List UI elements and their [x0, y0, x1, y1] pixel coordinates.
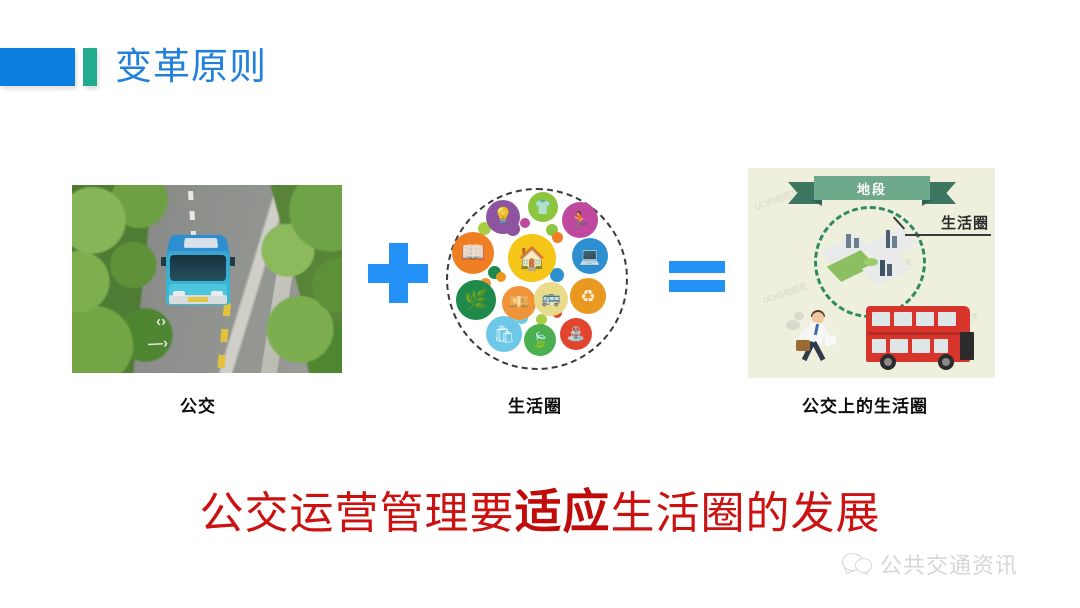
bus-window	[912, 339, 930, 353]
shopping-bag-icon: 🛍	[493, 326, 515, 343]
caption-bus: 公交	[180, 392, 216, 417]
channel-watermark: 公共交通资讯	[842, 548, 1018, 580]
plus-operator-icon	[368, 243, 428, 303]
recycle-icon: ♻	[580, 288, 595, 305]
bus-photo: ‹› —›	[72, 185, 342, 373]
life-circle-callout-label: 生活圈	[941, 212, 989, 233]
building	[880, 260, 885, 276]
leaf-icon: 🍃	[531, 333, 550, 348]
wechat-icon	[842, 552, 872, 576]
roadside-trees-right	[246, 185, 342, 373]
fountain-icon: ⛲	[567, 327, 586, 342]
fountain-bubble: ⛲	[560, 318, 592, 350]
bus-window	[894, 312, 912, 326]
headline-before: 公交运营管理要	[200, 489, 515, 538]
banner-label: 地段	[814, 176, 930, 200]
caption-life-circle: 生活圈	[508, 392, 562, 417]
bus-window	[916, 312, 934, 326]
building	[886, 230, 890, 248]
accent-dot	[520, 218, 530, 228]
bus-wheel	[938, 354, 954, 370]
stock-watermark: UCI约拍图文	[761, 281, 808, 307]
bus-headlight-right	[211, 291, 223, 296]
bus-window	[872, 339, 886, 353]
equals-bar-top	[669, 261, 725, 273]
building	[887, 264, 892, 276]
callout-underline	[905, 234, 991, 236]
running-icon: 🏃	[569, 212, 590, 229]
deck-divider	[868, 332, 968, 335]
motion-puff	[786, 320, 800, 330]
accent-dot	[496, 272, 506, 282]
bus-mirror-right	[230, 257, 235, 266]
leaf-bubble: 🍃	[524, 324, 556, 356]
headline: 公交运营管理要适应生活圈的发展	[0, 484, 1080, 542]
plus-vertical-bar	[389, 243, 408, 303]
double-decker-bus	[866, 306, 978, 370]
shopping-bag-bubble: 🛍	[486, 316, 522, 352]
bus-lane-text-marking: —›	[148, 334, 169, 352]
bus-headlight-left	[173, 291, 185, 296]
running-bubble: 🏃	[562, 202, 598, 238]
city-bus-vehicle	[164, 233, 232, 315]
bus-bubble: 🚌	[534, 282, 568, 316]
bus-icon: 🚌	[541, 291, 561, 307]
nature-icon: 🌿	[464, 291, 488, 310]
laptop-icon: 💻	[579, 248, 600, 265]
bus-license-plate	[188, 297, 208, 302]
bus-window	[890, 339, 908, 353]
bus-wheel	[880, 354, 896, 370]
building	[892, 236, 897, 248]
bus-window	[872, 312, 890, 326]
book-bubble: 📖	[452, 232, 494, 274]
headline-emphasis: 适应	[515, 485, 611, 538]
house-icon: 🏠	[518, 247, 547, 270]
building	[854, 238, 859, 248]
house-bubble: 🏠	[508, 234, 556, 282]
tshirt-bubble: 👕	[528, 192, 558, 222]
bus-mirror-left	[161, 257, 166, 266]
tshirt-icon: 👕	[534, 200, 551, 214]
bus-door	[960, 332, 974, 360]
recycle-bubble: ♻	[570, 278, 606, 314]
motion-puff	[794, 312, 804, 320]
roundabout-green	[864, 258, 878, 266]
headline-after: 生活圈的发展	[611, 489, 881, 538]
bus-window	[934, 339, 948, 353]
equals-operator-icon	[669, 261, 725, 293]
bus-destination-sign	[184, 238, 218, 248]
bus-lane-marking-icon: ‹›	[156, 313, 167, 331]
equals-bar-bottom	[669, 280, 725, 292]
wechat-bubble-small	[855, 558, 872, 573]
running-businessman	[792, 308, 840, 366]
yen-icon: 💴	[509, 295, 529, 311]
bus-windshield	[170, 255, 226, 281]
lightbulb-bubble: 💡	[486, 200, 520, 234]
book-icon: 📖	[461, 243, 486, 263]
channel-name: 公共交通资讯	[880, 548, 1018, 580]
laptop-bubble: 💻	[572, 238, 608, 274]
accent-dot	[552, 232, 563, 243]
document-icon	[824, 335, 837, 347]
runner-leg-right	[812, 341, 826, 361]
isometric-city-map	[824, 230, 922, 290]
wheel-hub	[942, 358, 950, 366]
briefcase-icon	[796, 340, 810, 351]
wheel-hub	[884, 358, 892, 366]
building	[846, 234, 851, 248]
lightbulb-icon: 💡	[493, 209, 513, 225]
caption-life-circle-on-bus: 公交上的生活圈	[802, 392, 928, 417]
life-circle-diagram: 💡👕🏃📖🏠💻🌿💴🚌♻🛍🍃⛲	[446, 188, 628, 370]
life-circle-on-bus-illustration: UCI约拍图文 UCI约拍图文 UCI约拍图文 UCI约拍图文 UCI约拍图文 …	[748, 168, 995, 378]
banner-ribbon: 地段	[788, 176, 956, 200]
nature-bubble: 🌿	[456, 280, 496, 320]
yen-bubble: 💴	[502, 286, 536, 320]
bus-window	[938, 312, 956, 326]
